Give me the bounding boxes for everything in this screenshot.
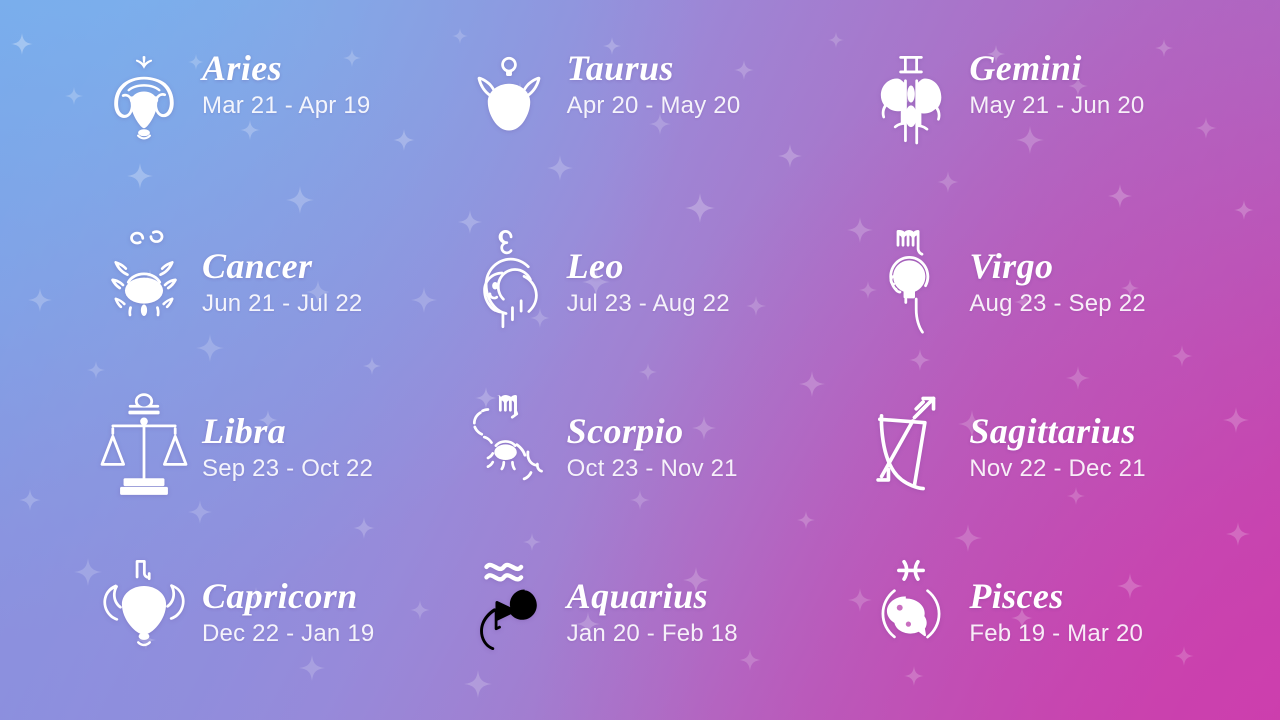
sign-name: Aquarius (567, 578, 738, 614)
sign-name: Capricorn (202, 578, 374, 614)
zodiac-text-cancer: Cancer Jun 21 - Jul 22 (202, 248, 362, 316)
zodiac-card-pisces[interactable]: Pisces Feb 19 - Mar 20 (847, 529, 1262, 694)
sagittarius-bow-icon (859, 389, 963, 505)
sign-dates: Oct 23 - Nov 21 (567, 457, 738, 481)
virgo-maiden-icon (859, 224, 963, 340)
zodiac-card-libra[interactable]: Libra Sep 23 - Oct 22 (18, 364, 433, 529)
sign-dates: Sep 23 - Oct 22 (202, 457, 373, 481)
zodiac-text-leo: Leo Jul 23 - Aug 22 (567, 248, 730, 316)
aquarius-water-bearer-icon (457, 554, 561, 670)
sign-dates: Jul 23 - Aug 22 (567, 292, 730, 316)
zodiac-card-cancer[interactable]: Cancer Jun 21 - Jul 22 (18, 199, 433, 364)
pisces-fish-icon (859, 554, 963, 670)
zodiac-card-aquarius[interactable]: Aquarius Jan 20 - Feb 18 (433, 529, 848, 694)
zodiac-text-capricorn: Capricorn Dec 22 - Jan 19 (202, 578, 374, 646)
sign-name: Aries (202, 50, 370, 86)
sign-dates: Nov 22 - Dec 21 (969, 457, 1145, 481)
zodiac-card-scorpio[interactable]: Scorpio Oct 23 - Nov 21 (433, 364, 848, 529)
sign-dates: Jan 20 - Feb 18 (567, 622, 738, 646)
sign-name: Cancer (202, 248, 362, 284)
zodiac-text-libra: Libra Sep 23 - Oct 22 (202, 413, 373, 481)
sign-name: Libra (202, 413, 373, 449)
sign-dates: Mar 21 - Apr 19 (202, 94, 370, 118)
zodiac-text-aries: Aries Mar 21 - Apr 19 (202, 50, 370, 118)
zodiac-card-taurus[interactable]: Taurus Apr 20 - May 20 (433, 34, 848, 199)
sign-dates: Apr 20 - May 20 (567, 94, 741, 118)
sign-dates: Jun 21 - Jul 22 (202, 292, 362, 316)
aries-ram-icon (92, 50, 196, 166)
zodiac-text-taurus: Taurus Apr 20 - May 20 (567, 50, 741, 118)
sign-name: Virgo (969, 248, 1145, 284)
sign-name: Taurus (567, 50, 741, 86)
zodiac-card-aries[interactable]: Aries Mar 21 - Apr 19 (18, 34, 433, 199)
sign-name: Leo (567, 248, 730, 284)
leo-lion-icon (457, 224, 561, 340)
taurus-bull-icon (457, 50, 561, 166)
zodiac-poster: Aries Mar 21 - Apr 19 Taurus Apr 20 - Ma… (0, 0, 1280, 720)
zodiac-text-aquarius: Aquarius Jan 20 - Feb 18 (567, 578, 738, 646)
zodiac-card-leo[interactable]: Leo Jul 23 - Aug 22 (433, 199, 848, 364)
zodiac-text-pisces: Pisces Feb 19 - Mar 20 (969, 578, 1143, 646)
capricorn-goat-icon (92, 554, 196, 670)
sign-name: Gemini (969, 50, 1144, 86)
zodiac-card-capricorn[interactable]: Capricorn Dec 22 - Jan 19 (18, 529, 433, 694)
sign-name: Pisces (969, 578, 1143, 614)
zodiac-text-scorpio: Scorpio Oct 23 - Nov 21 (567, 413, 738, 481)
scorpio-scorpion-icon (457, 389, 561, 505)
sign-dates: May 21 - Jun 20 (969, 94, 1144, 118)
sign-dates: Feb 19 - Mar 20 (969, 622, 1143, 646)
sign-name: Scorpio (567, 413, 738, 449)
libra-scales-icon (92, 389, 196, 505)
cancer-crab-icon (92, 224, 196, 340)
zodiac-text-virgo: Virgo Aug 23 - Sep 22 (969, 248, 1145, 316)
zodiac-sign-grid: Aries Mar 21 - Apr 19 Taurus Apr 20 - Ma… (0, 0, 1280, 720)
zodiac-text-sagittarius: Sagittarius Nov 22 - Dec 21 (969, 413, 1145, 481)
zodiac-card-gemini[interactable]: Gemini May 21 - Jun 20 (847, 34, 1262, 199)
gemini-twins-icon (859, 50, 963, 166)
sign-dates: Aug 23 - Sep 22 (969, 292, 1145, 316)
zodiac-card-virgo[interactable]: Virgo Aug 23 - Sep 22 (847, 199, 1262, 364)
sign-dates: Dec 22 - Jan 19 (202, 622, 374, 646)
sign-name: Sagittarius (969, 413, 1145, 449)
zodiac-card-sagittarius[interactable]: Sagittarius Nov 22 - Dec 21 (847, 364, 1262, 529)
zodiac-text-gemini: Gemini May 21 - Jun 20 (969, 50, 1144, 118)
